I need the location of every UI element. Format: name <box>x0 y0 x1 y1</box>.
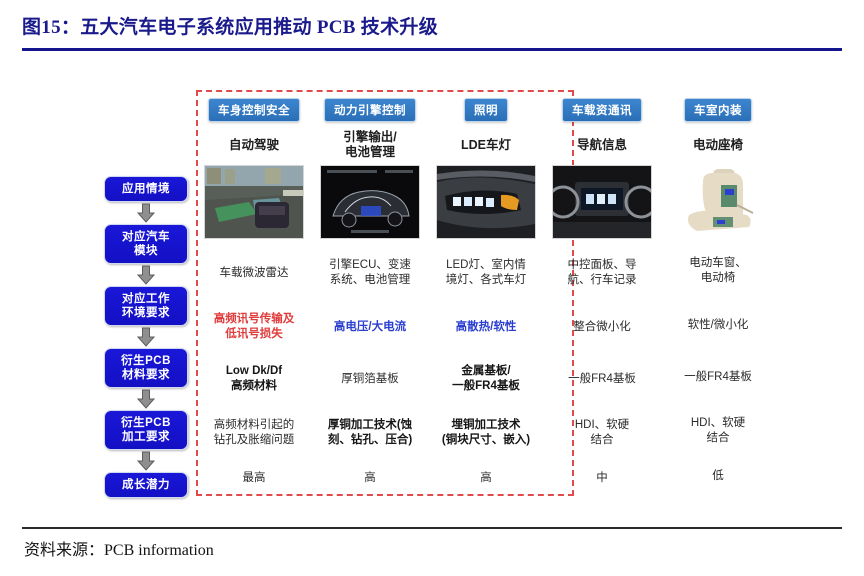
cell-growth: 高 <box>314 461 426 495</box>
flow-step-label: 对应工作 <box>105 292 187 306</box>
cell-process: 厚铜加工技术(蚀刻、钻孔、压合) <box>314 405 426 461</box>
flow-step-label: 加工要求 <box>105 430 187 444</box>
flow-step-6[interactable]: 成长潜力 <box>104 472 188 498</box>
figure-header: 图15：五大汽车电子系统应用推动 PCB 技术升级 <box>22 12 842 39</box>
cell-material: 厚铜箔基板 <box>314 353 426 405</box>
cell-modules: 车载微波雷达 <box>198 245 310 301</box>
title-divider <box>22 48 842 51</box>
cell-modules: 中控面板、导航、行车记录 <box>546 245 658 301</box>
column-category-chip[interactable]: 车身控制安全 <box>208 98 300 122</box>
column-category-chip[interactable]: 车载资通讯 <box>562 98 642 122</box>
cell-environment: 软性/微小化 <box>662 299 774 351</box>
car-infotainment-dashboard-image <box>552 165 652 239</box>
led-headlight-image <box>436 165 536 239</box>
column-category-chip[interactable]: 车室内装 <box>684 98 752 122</box>
matrix-column-2: 动力引擎控制引擎输出/电池管理引擎ECU、变速系统、电池管理高电压/大电流厚铜箔… <box>312 92 428 502</box>
down-arrow-icon <box>104 326 188 348</box>
cell-process: 埋铜加工技术(铜块尺寸、嵌入) <box>430 405 542 461</box>
cell-environment: 整合微小化 <box>546 301 658 353</box>
cell-modules: 引擎ECU、变速系统、电池管理 <box>314 245 426 301</box>
cell-process: 高频材料引起的钻孔及胀缩问题 <box>198 405 310 461</box>
source-note: 资料来源：PCB information <box>24 536 214 560</box>
flow-step-5[interactable]: 衍生PCB加工要求 <box>104 410 188 450</box>
flow-step-label: 环境要求 <box>105 306 187 320</box>
flow-step-label: 衍生PCB <box>105 416 187 430</box>
adas-road-scene-image <box>204 165 304 239</box>
cell-modules: LED灯、室内情境灯、各式车灯 <box>430 245 542 301</box>
footer-divider <box>22 527 842 529</box>
column-subhead: 引擎输出/电池管理 <box>343 129 396 161</box>
flow-step-label: 成长潜力 <box>105 478 187 492</box>
cell-growth: 中 <box>546 461 658 495</box>
matrix-column-5: 车室内装电动座椅电动车窗、电动椅软性/微小化一般FR4基板HDI、软硬结合低 <box>660 92 776 502</box>
flow-step-label: 应用情境 <box>105 182 187 196</box>
flow-step-label: 衍生PCB <box>105 354 187 368</box>
flow-step-3[interactable]: 对应工作环境要求 <box>104 286 188 326</box>
cell-growth: 低 <box>662 459 774 493</box>
matrix-column-4: 车载资通讯导航信息中控面板、导航、行车记录整合微小化一般FR4基板HDI、软硬结… <box>544 92 660 502</box>
cell-modules: 电动车窗、电动椅 <box>662 243 774 299</box>
matrix-column-3: 照明LDE车灯LED灯、室内情境灯、各式车灯高散热/软性金属基板/一般FR4基板… <box>428 92 544 502</box>
cell-material: Low Dk/Df高频材料 <box>198 353 310 405</box>
column-category-chip[interactable]: 动力引擎控制 <box>324 98 416 122</box>
cell-environment: 高电压/大电流 <box>314 301 426 353</box>
flow-step-label: 模块 <box>105 244 187 258</box>
cell-process: HDI、软硬结合 <box>546 405 658 461</box>
column-subhead: 电动座椅 <box>693 129 743 161</box>
flow-step-4[interactable]: 衍生PCB材料要求 <box>104 348 188 388</box>
application-matrix: 车身控制安全自动驾驶车载微波雷达高频讯号传输及低讯号损失Low Dk/Df高频材… <box>196 92 776 502</box>
xray-car-powertrain-image <box>320 165 420 239</box>
down-arrow-icon <box>104 450 188 472</box>
column-subhead: 自动驾驶 <box>229 129 279 161</box>
cell-environment: 高散热/软性 <box>430 301 542 353</box>
down-arrow-icon <box>104 264 188 286</box>
cell-material: 一般FR4基板 <box>662 351 774 403</box>
down-arrow-icon <box>104 202 188 224</box>
cell-material: 一般FR4基板 <box>546 353 658 405</box>
cell-growth: 最高 <box>198 461 310 495</box>
column-subhead: 导航信息 <box>577 129 627 161</box>
cell-growth: 高 <box>430 461 542 495</box>
power-car-seat-image <box>669 165 767 237</box>
cell-environment: 高频讯号传输及低讯号损失 <box>198 301 310 353</box>
process-flow-sidebar: 应用情境对应汽车模块对应工作环境要求衍生PCB材料要求衍生PCB加工要求成长潜力 <box>104 176 192 498</box>
column-subhead: LDE车灯 <box>461 129 511 161</box>
flow-step-1[interactable]: 应用情境 <box>104 176 188 202</box>
page-title: 图15：五大汽车电子系统应用推动 PCB 技术升级 <box>22 12 842 39</box>
cell-material: 金属基板/一般FR4基板 <box>430 353 542 405</box>
flow-step-2[interactable]: 对应汽车模块 <box>104 224 188 264</box>
matrix-column-1: 车身控制安全自动驾驶车载微波雷达高频讯号传输及低讯号损失Low Dk/Df高频材… <box>196 92 312 502</box>
column-category-chip[interactable]: 照明 <box>464 98 508 122</box>
flow-step-label: 对应汽车 <box>105 230 187 244</box>
flow-step-label: 材料要求 <box>105 368 187 382</box>
down-arrow-icon <box>104 388 188 410</box>
cell-process: HDI、软硬结合 <box>662 403 774 459</box>
